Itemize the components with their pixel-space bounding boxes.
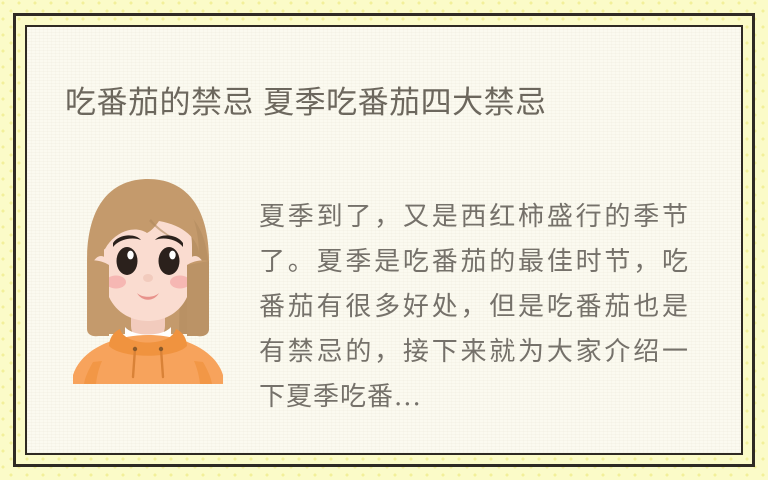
article-title: 吃番茄的禁忌 夏季吃番茄四大禁忌 bbox=[65, 82, 725, 124]
card-content: 吃番茄的禁忌 夏季吃番茄四大禁忌 bbox=[27, 27, 741, 453]
page-background: 吃番茄的禁忌 夏季吃番茄四大禁忌 bbox=[0, 0, 768, 480]
article-card: 吃番茄的禁忌 夏季吃番茄四大禁忌 bbox=[25, 25, 743, 455]
person-avatar-illustration bbox=[63, 169, 233, 384]
article-excerpt: 夏季到了，又是西红柿盛行的季节了。夏季是吃番茄的最佳时节，吃番茄有很多好处，但是… bbox=[259, 195, 689, 420]
article-body-row: 夏季到了，又是西红柿盛行的季节了。夏季是吃番茄的最佳时节，吃番茄有很多好处，但是… bbox=[27, 169, 741, 446]
avatar-icon bbox=[63, 169, 233, 384]
